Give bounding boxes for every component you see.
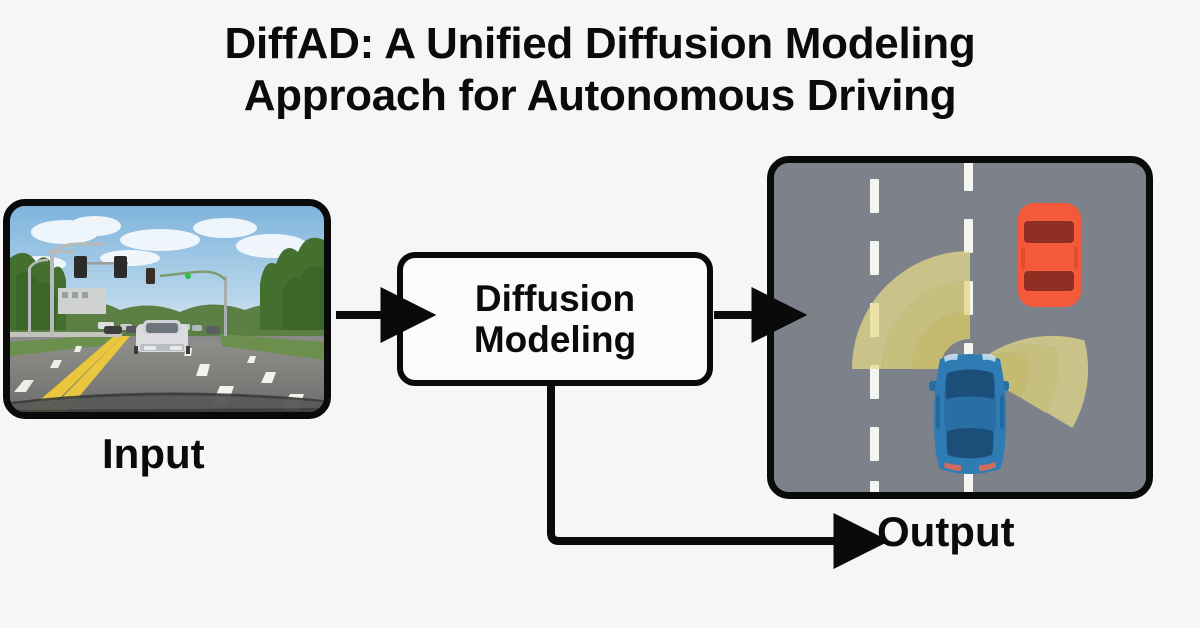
output-bev-panel <box>767 156 1153 499</box>
bev-scene <box>774 163 1146 492</box>
diffusion-modeling-box[interactable]: Diffusion Modeling <box>397 252 713 386</box>
input-label: Input <box>102 430 205 478</box>
diagram-canvas: DiffAD: A Unified Diffusion Modeling App… <box>0 0 1200 628</box>
ego-car <box>929 354 1009 474</box>
lead-car <box>1018 203 1081 307</box>
lead-vehicle-in-photo <box>134 320 190 354</box>
output-label: Output <box>877 508 1015 556</box>
input-image-panel <box>3 199 331 419</box>
page-title: DiffAD: A Unified Diffusion Modeling App… <box>0 18 1200 122</box>
title-line-2: Approach for Autonomous Driving <box>0 70 1200 122</box>
process-box-line-1: Diffusion <box>475 278 635 319</box>
dashcam-scene <box>10 206 324 412</box>
title-line-1: DiffAD: A Unified Diffusion Modeling <box>0 18 1200 70</box>
process-box-line-2: Modeling <box>474 319 636 360</box>
